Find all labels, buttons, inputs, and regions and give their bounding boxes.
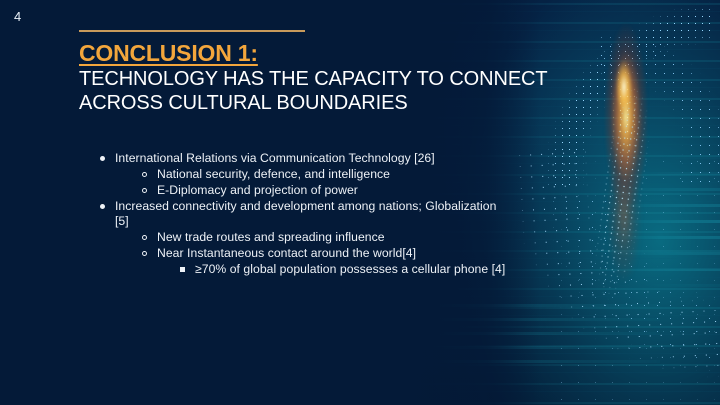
bullet-item-level-2: Near Instantaneous contact around the wo… [131, 246, 509, 262]
presentation-slide: 4 CONCLUSION 1: TECHNOLOGY HAS THE CAPAC… [0, 0, 720, 405]
hollow-circle-shape [142, 188, 147, 193]
bullet-text: Near Instantaneous contact around the wo… [157, 246, 416, 262]
bullet-item-level-1: Increased connectivity and development a… [89, 199, 509, 231]
bullet-text: New trade routes and spreading influence [157, 230, 385, 246]
page-title: TECHNOLOGY HAS THE CAPACITY TO CONNECT A… [79, 68, 599, 115]
particle-spine-icon [574, 86, 685, 325]
hollow-circle-icon [131, 246, 157, 256]
bullet-list: International Relations via Communicatio… [89, 151, 509, 278]
bullet-item-level-2: E-Diplomacy and projection of power [131, 183, 509, 199]
hollow-circle-icon [131, 167, 157, 177]
hollow-circle-shape [142, 251, 147, 256]
hollow-circle-shape [142, 172, 147, 177]
bullet-text: Increased connectivity and development a… [115, 199, 509, 231]
bullet-text: ≥70% of global population possesses a ce… [195, 262, 505, 278]
particle-fan-secondary-icon [500, 200, 720, 405]
hollow-circle-icon [131, 230, 157, 240]
filled-square-shape [180, 267, 185, 272]
filled-disc-icon [89, 199, 115, 209]
particle-glow-cluster [598, 60, 654, 180]
bullet-item-level-3: ≥70% of global population possesses a ce… [169, 262, 509, 278]
page-number: 4 [14, 9, 22, 24]
bullet-item-level-2: National security, defence, and intellig… [131, 167, 509, 183]
title-block: CONCLUSION 1: TECHNOLOGY HAS THE CAPACIT… [79, 30, 599, 115]
filled-disc-shape [100, 156, 105, 161]
hollow-circle-icon [131, 183, 157, 193]
bullet-item-level-2: New trade routes and spreading influence [131, 230, 509, 246]
bullet-text: E-Diplomacy and projection of power [157, 183, 358, 199]
teal-streaks-lower [410, 300, 660, 370]
page-title-accent: CONCLUSION 1: [79, 42, 599, 66]
orange-core-glow [596, 2, 656, 232]
filled-disc-icon [89, 151, 115, 161]
bullet-item-level-1: International Relations via Communicatio… [89, 151, 509, 167]
title-divider [79, 30, 305, 32]
teal-streaks-bright [530, 150, 720, 300]
particle-sparse-field [560, 160, 720, 405]
filled-disc-shape [100, 204, 105, 209]
orange-core-hotspot [612, 52, 636, 122]
particle-arc-right-icon [600, 0, 720, 190]
glow-tail [600, 150, 648, 310]
bullet-text: National security, defence, and intellig… [157, 167, 390, 183]
bullet-text: International Relations via Communicatio… [115, 151, 435, 167]
hollow-circle-shape [142, 235, 147, 240]
filled-square-icon [169, 262, 195, 272]
